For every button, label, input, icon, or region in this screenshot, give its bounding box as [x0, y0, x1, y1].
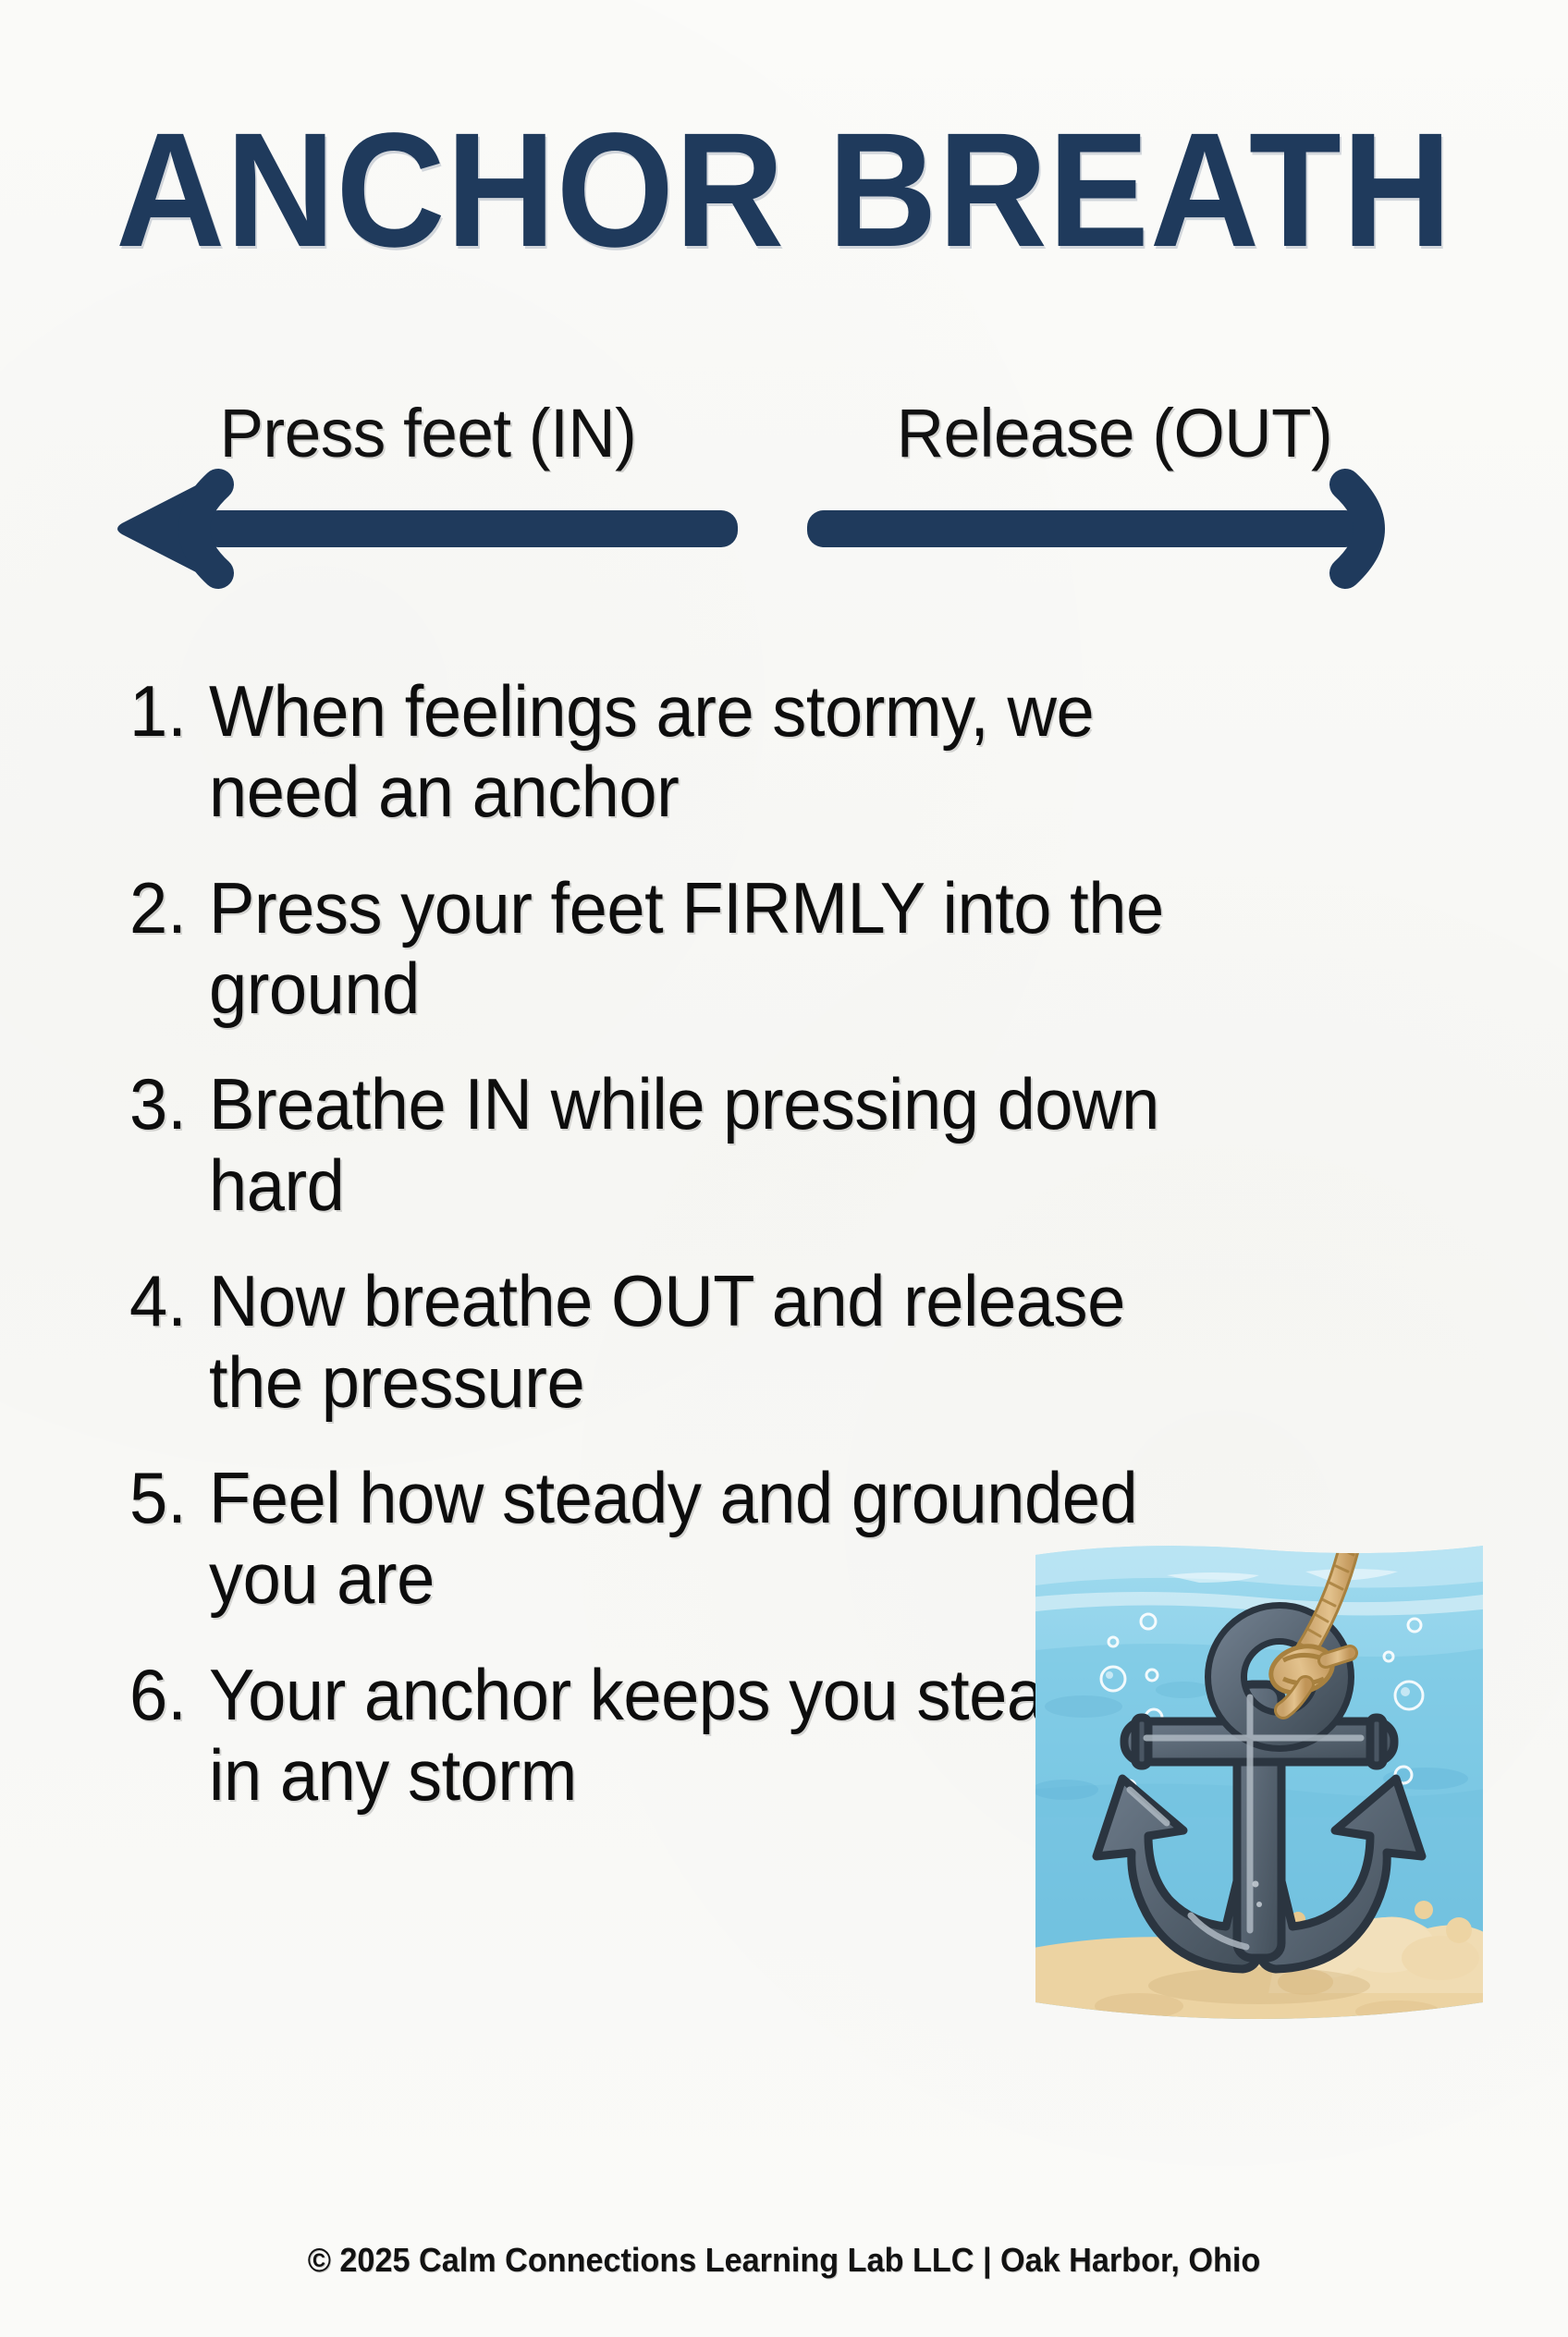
- step-text: Now breathe OUT and release the pressure: [209, 1261, 1175, 1423]
- arrow-left-icon: [109, 479, 747, 579]
- step-text: When feelings are stormy, we need an anc…: [209, 671, 1175, 833]
- list-item: 2. Press your feet FIRMLY into the groun…: [129, 868, 1285, 1030]
- step-number: 4.: [129, 1261, 205, 1341]
- step-number: 2.: [129, 868, 205, 948]
- breath-arrow-band: Press feet (IN) Release (OUT): [109, 398, 1459, 582]
- list-item: 4. Now breathe OUT and release the press…: [129, 1261, 1285, 1423]
- arrow-right-icon: [770, 479, 1459, 579]
- step-number: 1.: [129, 671, 205, 752]
- step-text: Breathe IN while pressing down hard: [209, 1064, 1175, 1226]
- step-number: 6.: [129, 1655, 205, 1735]
- step-text: Press your feet FIRMLY into the ground: [209, 868, 1175, 1030]
- page-title: ANCHOR BREATH: [55, 109, 1513, 272]
- step-number: 3.: [129, 1064, 205, 1144]
- poster-page: ANCHOR BREATH Press feet (IN) Release (O…: [0, 0, 1568, 2337]
- copyright-footer: © 2025 Calm Connections Learning Lab LLC…: [39, 2241, 1528, 2280]
- inhale-arrow-group: Press feet (IN): [109, 398, 747, 582]
- inhale-label: Press feet (IN): [122, 398, 734, 470]
- list-item: 1. When feelings are stormy, we need an …: [129, 671, 1285, 833]
- anchor-underwater-scene-icon: [1028, 1512, 1490, 2036]
- exhale-arrow-group: Release (OUT): [770, 398, 1459, 582]
- exhale-label: Release (OUT): [784, 398, 1445, 470]
- step-number: 5.: [129, 1458, 205, 1538]
- anchor-illustration: [1028, 1512, 1490, 2036]
- list-item: 3. Breathe IN while pressing down hard: [129, 1064, 1285, 1226]
